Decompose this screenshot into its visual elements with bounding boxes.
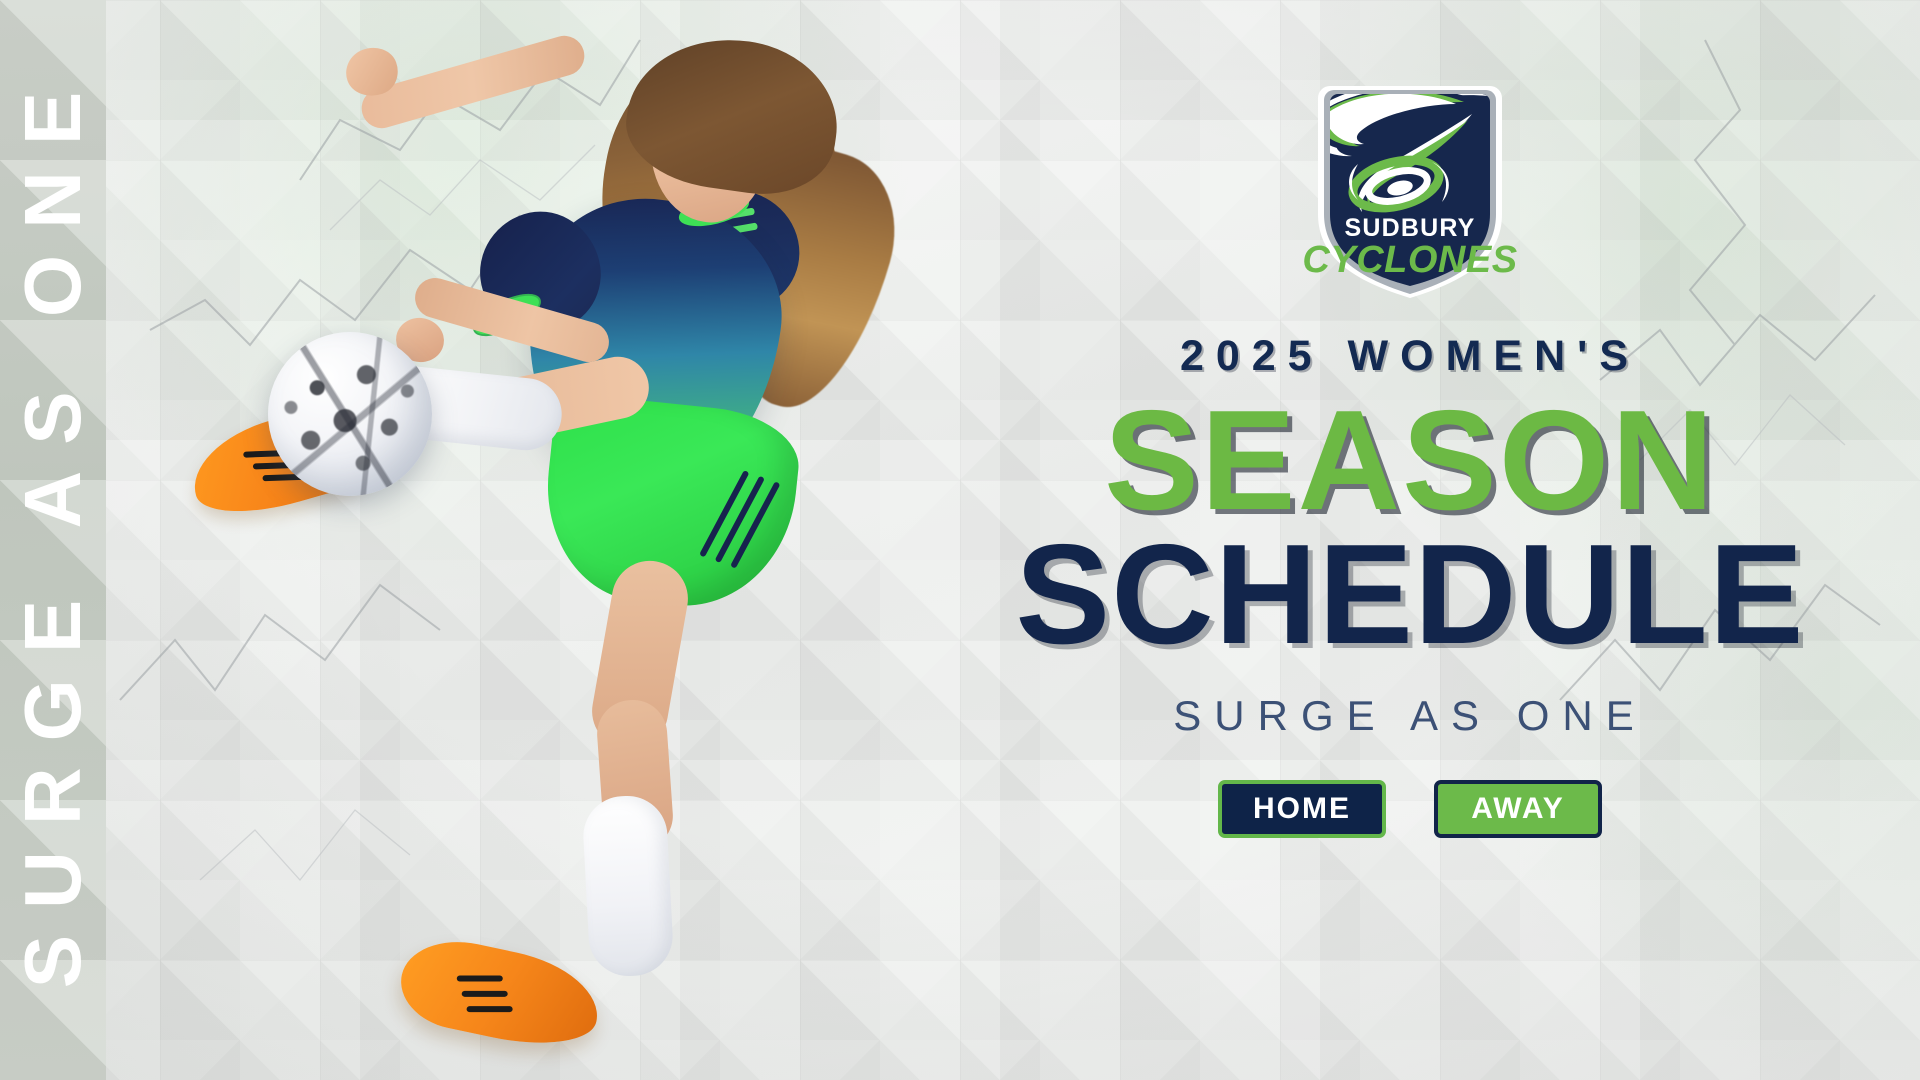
legend-away-chip[interactable]: AWAY bbox=[1434, 780, 1602, 838]
player-photo bbox=[150, 0, 970, 1080]
legend-home-chip[interactable]: HOME bbox=[1218, 780, 1386, 838]
side-banner: SURGE AS ONE bbox=[0, 0, 106, 1080]
player-boot-back bbox=[393, 930, 607, 1058]
soccer-ball bbox=[268, 332, 432, 496]
poster-canvas: SURGE AS ONE bbox=[0, 0, 1920, 1080]
legend-row: HOME AWAY bbox=[1218, 780, 1602, 838]
team-crest: SUDBURY CYCLONES bbox=[1300, 58, 1520, 298]
eyebrow-text: 2025 WOMEN'S bbox=[1180, 332, 1640, 381]
tagline-text: SURGE AS ONE bbox=[1173, 692, 1646, 740]
crest-city-text: SUDBURY bbox=[1344, 214, 1475, 242]
content-column: SUDBURY CYCLONES 2025 WOMEN'S SEASON SCH… bbox=[1020, 0, 1800, 1080]
title-schedule: SCHEDULE bbox=[1015, 521, 1804, 669]
crest-name-text: CYCLONES bbox=[1302, 239, 1517, 281]
title-season: SEASON bbox=[1104, 387, 1716, 535]
team-crest-icon: SUDBURY CYCLONES bbox=[1300, 58, 1520, 298]
player-sock-back bbox=[581, 794, 674, 978]
side-banner-text: SURGE AS ONE bbox=[13, 66, 93, 1014]
